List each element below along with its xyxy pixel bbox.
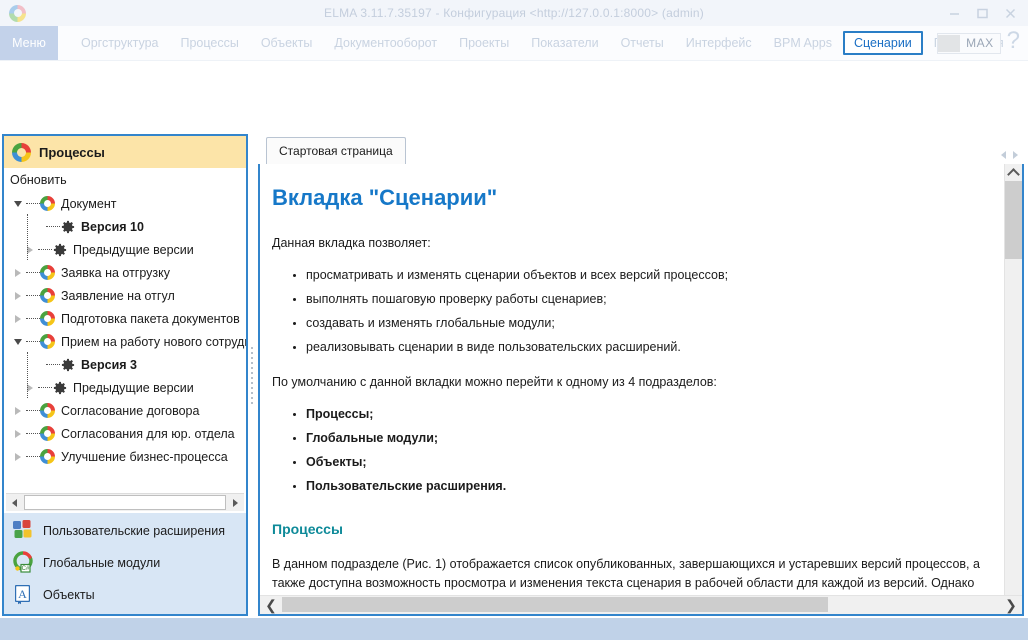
tree-item-shipment-request[interactable]: Заявка на отгрузку [4, 261, 246, 284]
tree-item-label: Предыдущие версии [72, 243, 194, 257]
scrollbar-thumb[interactable] [282, 597, 828, 612]
chevron-right-icon[interactable] [10, 269, 26, 277]
nav-right-icon[interactable] [1013, 151, 1018, 159]
menu-item-interface[interactable]: Интерфейс [675, 32, 763, 54]
menu-item-projects[interactable]: Проекты [448, 32, 520, 54]
edition-badge: MAX [937, 33, 1001, 54]
tree-item-label: Документ [60, 197, 116, 211]
menu-item-processes[interactable]: Процессы [169, 32, 249, 54]
process-icon [40, 311, 55, 326]
list-item: выполнять пошаговую проверку работы сцен… [306, 290, 982, 308]
chevron-right-icon[interactable] [22, 246, 38, 254]
tree-item-label: Согласование договора [60, 404, 199, 418]
tree-item-label: Прием на работу нового сотрудник [60, 335, 246, 349]
elma-process-ring-icon [12, 143, 31, 162]
menu-item-indicators[interactable]: Показатели [520, 32, 609, 54]
tree-dash [26, 456, 40, 458]
list-item: Глобальные модули; [306, 429, 982, 447]
chevron-left-icon[interactable]: ❮ [260, 596, 282, 614]
chevron-right-icon[interactable]: ❯ [1000, 596, 1022, 614]
page-title: Вкладка "Сценарии" [272, 182, 982, 214]
intro-paragraph: Данная вкладка позволяет: [272, 234, 982, 252]
tree-item-new-employee-hiring[interactable]: Прием на работу нового сотрудник [4, 330, 246, 353]
tree-item-label: Подготовка пакета документов [60, 312, 240, 326]
list-item: Процессы; [306, 405, 982, 423]
maximize-icon[interactable] [968, 0, 996, 26]
document-horizontal-scrollbar[interactable]: ❮ ❯ [260, 595, 1022, 614]
menu-item-bpm-apps[interactable]: BPM Apps [763, 32, 843, 54]
sidebar-item-global-modules[interactable]: C# Глобальные модули [4, 547, 246, 579]
list-item: реализовывать сценарии в виде пользовате… [306, 338, 982, 356]
process-icon [40, 265, 55, 280]
edition-label: MAX [960, 36, 1000, 50]
list-item: Пользовательские расширения. [306, 477, 982, 495]
sidebar-horizontal-scrollbar[interactable] [6, 493, 244, 511]
sidebar-item-label: Глобальные модули [43, 556, 160, 570]
minimize-icon[interactable] [940, 0, 968, 26]
title-bar: ELMA 3.11.7.35197 - Конфигурация <http:/… [0, 0, 1028, 26]
tree-item-version-3[interactable]: Версия 3 [4, 353, 246, 376]
tree-item-label: Улучшение бизнес-процесса [60, 450, 228, 464]
svg-text:C#: C# [22, 566, 30, 572]
chevron-down-icon[interactable] [10, 339, 26, 345]
arrow-right-icon[interactable] [227, 495, 244, 510]
application-window: ELMA 3.11.7.35197 - Конфигурация <http:/… [0, 0, 1028, 640]
tree-item-version-10[interactable]: Версия 10 [4, 215, 246, 238]
tree-dash [46, 364, 60, 366]
close-icon[interactable] [996, 0, 1024, 26]
tab-start-page[interactable]: Стартовая страница [266, 137, 406, 164]
tree-dash [26, 318, 40, 320]
tab-navigation [1001, 151, 1018, 159]
tree-dash [26, 272, 40, 274]
capabilities-list: просматривать и изменять сценарии объект… [272, 266, 982, 357]
process-icon [40, 196, 55, 211]
tree-item-previous-versions-2[interactable]: Предыдущие версии [4, 376, 246, 399]
tab-strip: Стартовая страница [258, 134, 1024, 166]
sidebar-item-user-extensions[interactable]: Пользовательские расширения [4, 515, 246, 547]
sections-intro-paragraph: По умолчанию с данной вкладки можно пере… [272, 373, 982, 391]
chevron-right-icon[interactable] [10, 453, 26, 461]
menu-bar-right: MAX ? [937, 26, 1024, 60]
tree-dash [46, 226, 60, 228]
menu-item-list: Оргструктура Процессы Объекты Документоо… [58, 26, 1015, 60]
process-icon [40, 449, 55, 464]
tree-connector-line [27, 352, 28, 398]
chevron-right-icon[interactable] [10, 407, 26, 415]
scrollbar-thumb[interactable] [1005, 181, 1022, 259]
sidebar-title: Процессы [39, 145, 105, 160]
tree-item-label: Согласования для юр. отдела [60, 427, 235, 441]
menu-item-orgstructure[interactable]: Оргструктура [70, 32, 169, 54]
tree-item-label: Версия 10 [80, 220, 144, 234]
blue-book-icon: A [12, 583, 34, 608]
window-controls [940, 0, 1024, 26]
tree-item-label: Версия 3 [80, 358, 137, 372]
sections-list: Процессы; Глобальные модули; Объекты; По… [272, 405, 982, 496]
workspace-panel: Стартовая страница Вкладка "Сценарии" Да… [258, 134, 1024, 616]
puzzle-pieces-icon [12, 519, 34, 544]
tree-item-business-process-improvement[interactable]: Улучшение бизнес-процесса [4, 445, 246, 468]
document-frame: Вкладка "Сценарии" Данная вкладка позвол… [258, 164, 1024, 616]
process-icon [40, 334, 55, 349]
menu-item-document-flow[interactable]: Документооборот [323, 32, 448, 54]
section-heading-processes: Процессы [272, 519, 982, 539]
tree-item-document-package[interactable]: Подготовка пакета документов [4, 307, 246, 330]
arrow-left-icon[interactable] [6, 495, 23, 510]
tree-item-label: Заявка на отгрузку [60, 266, 170, 280]
document-vertical-scrollbar[interactable] [1004, 164, 1022, 595]
list-item: просматривать и изменять сценарии объект… [306, 266, 982, 284]
gear-icon [52, 242, 67, 257]
panel-splitter[interactable] [249, 300, 255, 450]
tree-dash [26, 341, 40, 343]
edition-swatch [938, 35, 960, 52]
process-icon [40, 288, 55, 303]
tree-connector-line [27, 214, 28, 260]
tree-dash [38, 249, 52, 251]
sidebar-item-label: Объекты [43, 588, 95, 602]
list-item: создавать и изменять глобальные модули; [306, 314, 982, 332]
tree-item-contract-approval[interactable]: Согласование договора [4, 399, 246, 422]
nav-left-icon[interactable] [1001, 151, 1006, 159]
tree-dash [26, 410, 40, 412]
sidebar-item-objects[interactable]: A Объекты [4, 579, 246, 611]
gear-icon [60, 357, 75, 372]
sidebar-item-label: Пользовательские расширения [43, 524, 225, 538]
document-body: Вкладка "Сценарии" Данная вкладка позвол… [260, 164, 1022, 595]
status-bar [0, 618, 1028, 640]
processes-sidebar: Процессы Обновить Документ Версия 10 [2, 134, 248, 616]
tree-item-previous-versions[interactable]: Предыдущие версии [4, 238, 246, 261]
menu-item-objects[interactable]: Объекты [250, 32, 324, 54]
document-content: Вкладка "Сценарии" Данная вкладка позвол… [260, 164, 1004, 595]
tree-item-legal-approvals[interactable]: Согласования для юр. отдела [4, 422, 246, 445]
tree-dash [26, 203, 40, 205]
tree-item-document[interactable]: Документ [4, 192, 246, 215]
tree-item-label: Предыдущие версии [72, 381, 194, 395]
tree-item-label: Заявление на отгул [60, 289, 175, 303]
process-icon [40, 426, 55, 441]
scrollbar-track[interactable] [24, 495, 226, 510]
svg-text:A: A [18, 587, 27, 601]
chevron-right-icon[interactable] [10, 315, 26, 323]
menu-item-reports[interactable]: Отчеты [610, 32, 675, 54]
section-body-paragraph: В данном подразделе (Рис. 1) отображаетс… [272, 555, 982, 595]
tree-dash [26, 433, 40, 435]
sidebar-header: Процессы [4, 136, 246, 168]
tree-dash [26, 295, 40, 297]
tree-item-time-off-request[interactable]: Заявление на отгул [4, 284, 246, 307]
sidebar-sections: Пользовательские расширения C# Глобальны… [4, 513, 246, 614]
chevron-up-icon[interactable] [1005, 164, 1022, 181]
process-tree: Документ Версия 10 Предыдущие версии [4, 190, 246, 493]
window-title: ELMA 3.11.7.35197 - Конфигурация <http:/… [0, 6, 1028, 20]
scrollbar-track[interactable] [282, 596, 1000, 614]
question-mark-icon[interactable]: ? [1007, 29, 1020, 57]
chevron-right-icon[interactable] [10, 292, 26, 300]
chevron-down-icon[interactable] [10, 201, 26, 207]
csharp-module-icon: C# [12, 551, 34, 576]
menu-item-scenarios[interactable]: Сценарии [843, 31, 923, 55]
process-icon [40, 403, 55, 418]
menu-button[interactable]: Меню [0, 26, 58, 60]
main-menu-bar: Меню Оргструктура Процессы Объекты Докум… [0, 26, 1028, 61]
gear-icon [60, 219, 75, 234]
refresh-link[interactable]: Обновить [4, 168, 246, 190]
chevron-right-icon[interactable] [22, 384, 38, 392]
chevron-right-icon[interactable] [10, 430, 26, 438]
tree-dash [38, 387, 52, 389]
list-item: Объекты; [306, 453, 982, 471]
gear-icon [52, 380, 67, 395]
